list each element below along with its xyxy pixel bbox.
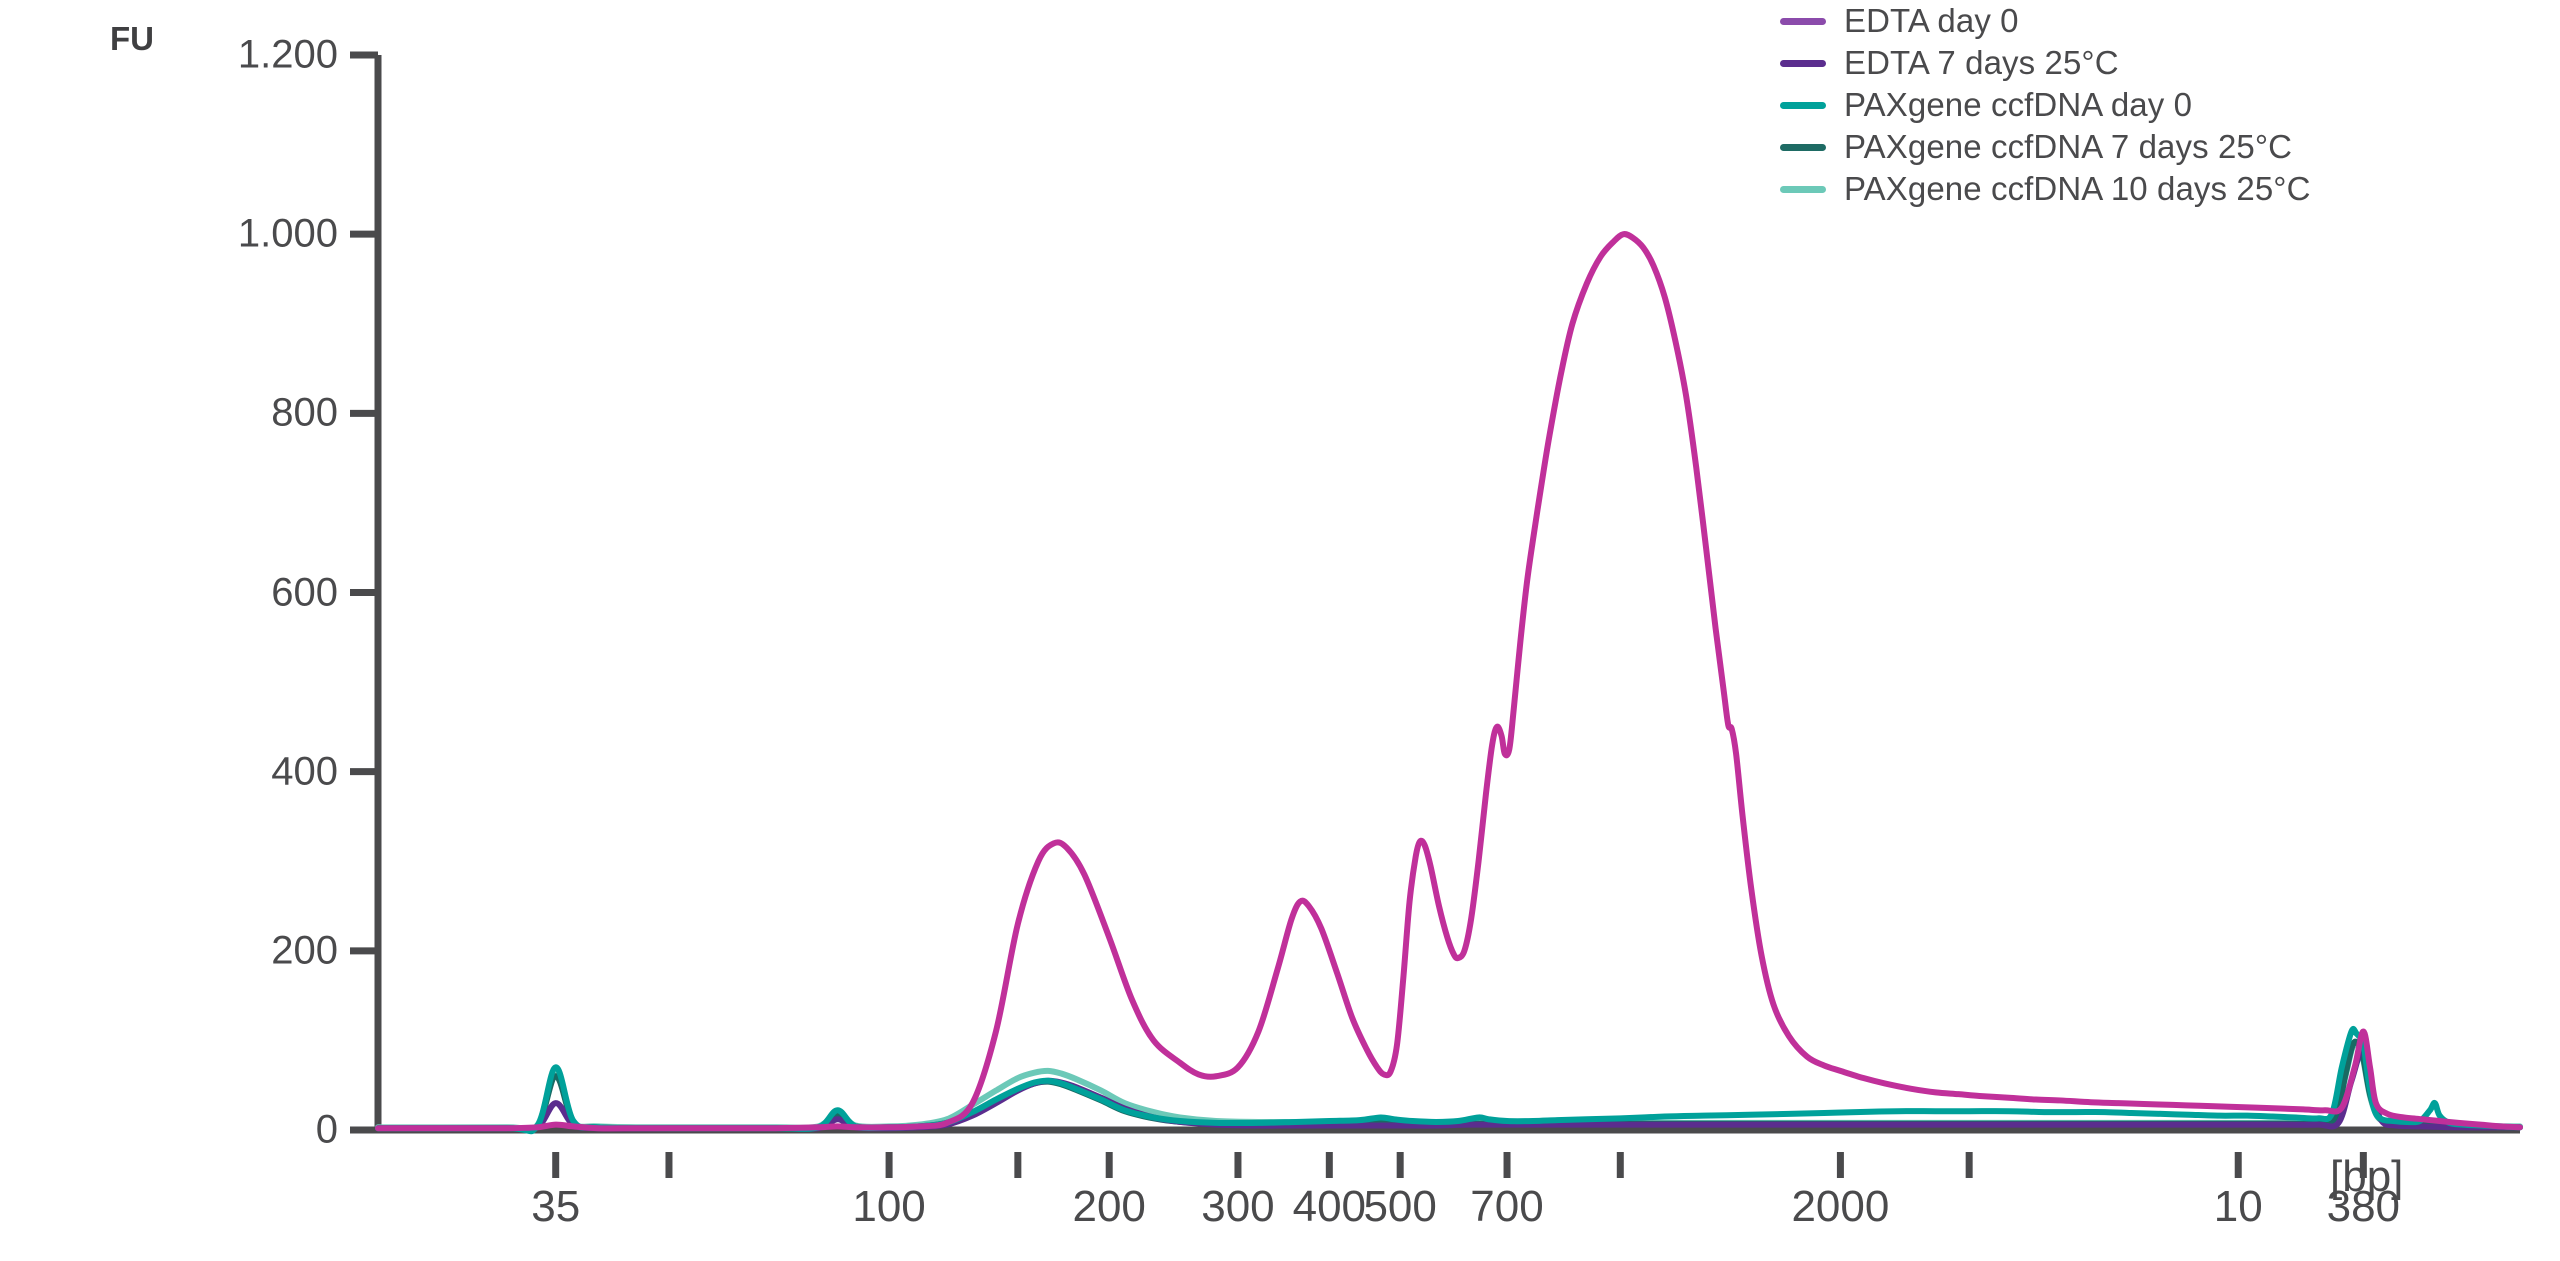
x-tick-label: 400: [1293, 1182, 1366, 1232]
legend-label: EDTA day 0: [1844, 0, 2019, 42]
x-tick-label: 300: [1201, 1182, 1274, 1232]
legend-color-swatch: [1780, 102, 1826, 109]
legend-item[interactable]: PAXgene ccfDNA 10 days 25°C: [1780, 168, 2550, 210]
series-group: [378, 234, 2520, 1131]
y-tick-label: 400: [120, 749, 338, 794]
x-tick-label: 10: [2214, 1182, 2263, 1232]
x-tick-label: 700: [1470, 1182, 1543, 1232]
legend-label: PAXgene ccfDNA 7 days 25°C: [1844, 126, 2292, 168]
x-tick-label: 500: [1363, 1182, 1436, 1232]
legend-label: PAXgene ccfDNA 10 days 25°C: [1844, 168, 2311, 210]
y-tick-label: 0: [120, 1108, 338, 1153]
axis-group: [350, 55, 2520, 1178]
x-tick-label: 2000: [1791, 1182, 1889, 1232]
legend-color-swatch: [1780, 60, 1826, 67]
x-tick-label: 200: [1072, 1182, 1145, 1232]
legend-color-swatch: [1780, 144, 1826, 151]
legend-item[interactable]: PAXgene ccfDNA 7 days 25°C: [1780, 126, 2550, 168]
legend-label: PAXgene ccfDNA day 0: [1844, 84, 2192, 126]
legend-label: EDTA 7 days 25°C: [1844, 42, 2119, 84]
series-line: [378, 234, 2520, 1128]
series-line: [378, 1029, 2520, 1131]
legend-item[interactable]: EDTA day 0: [1780, 0, 2550, 42]
x-axis-unit-label: [bp]: [2330, 1152, 2403, 1202]
y-tick-label: 800: [120, 391, 338, 436]
legend-color-swatch: [1780, 186, 1826, 193]
y-tick-label: 1.000: [120, 212, 338, 257]
legend-item[interactable]: PAXgene ccfDNA day 0: [1780, 84, 2550, 126]
legend-color-swatch: [1780, 18, 1826, 25]
y-tick-label: 200: [120, 928, 338, 973]
electropherogram-chart: FU 02004006008001.0001.200 3510020030040…: [0, 0, 2560, 1261]
x-tick-label: 100: [852, 1182, 925, 1232]
chart-legend: EDTA day 0EDTA 7 days 25°CPAXgene ccfDNA…: [1780, 0, 2550, 210]
x-tick-label: 35: [531, 1182, 580, 1232]
y-tick-label: 600: [120, 570, 338, 615]
y-tick-label: 1.200: [120, 33, 338, 78]
legend-item[interactable]: EDTA 7 days 25°C: [1780, 42, 2550, 84]
